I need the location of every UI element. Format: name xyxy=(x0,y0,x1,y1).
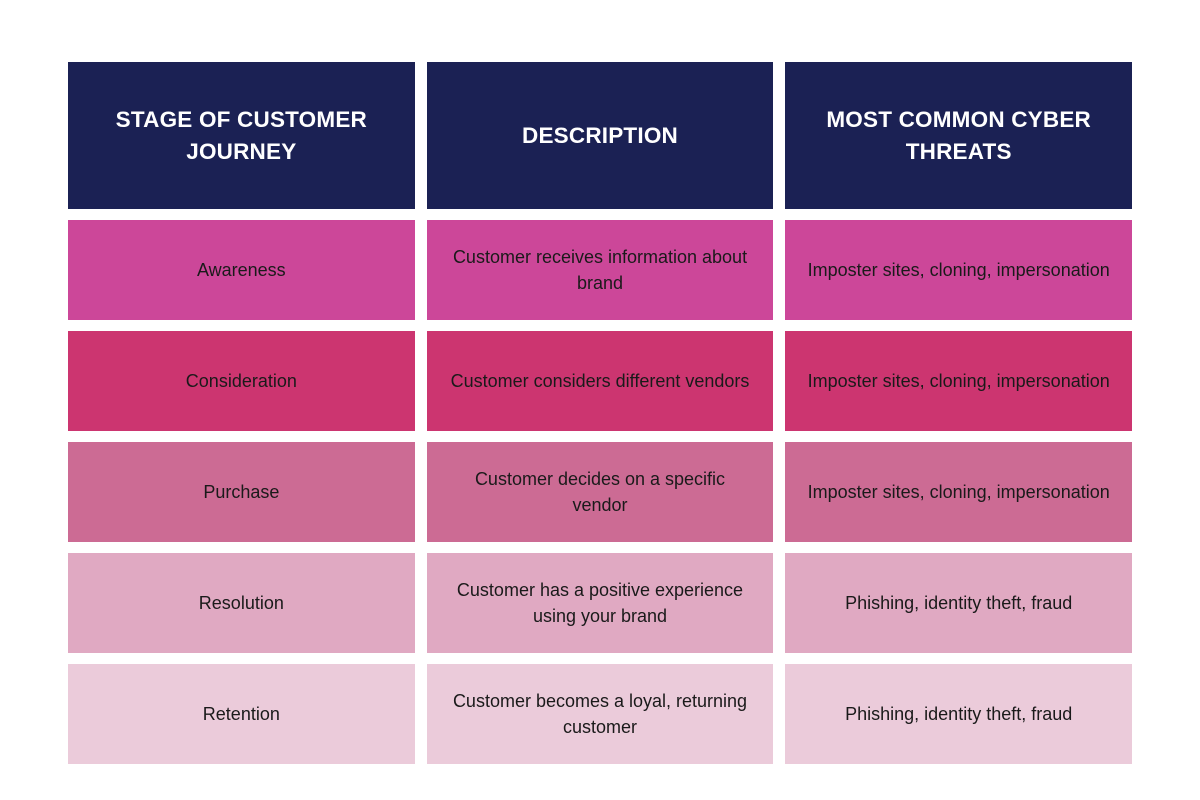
cell-threats-text: Imposter sites, cloning, impersonation xyxy=(807,257,1110,283)
column-header-threats: MOST COMMON CYBER THREATS xyxy=(785,62,1132,209)
table-body: STAGE OF CUSTOMER JOURNEY DESCRIPTION MO… xyxy=(68,62,1132,764)
cell-description: Customer has a positive experience using… xyxy=(427,553,774,653)
cell-description-text: Customer has a positive experience using… xyxy=(449,577,752,629)
table-row: Retention Customer becomes a loyal, retu… xyxy=(68,664,1132,764)
cell-threats: Phishing, identity theft, fraud xyxy=(785,553,1132,653)
column-header-stage-label: STAGE OF CUSTOMER JOURNEY xyxy=(90,104,393,168)
customer-journey-threats-table: STAGE OF CUSTOMER JOURNEY DESCRIPTION MO… xyxy=(68,62,1132,764)
cell-stage-text: Resolution xyxy=(90,590,393,616)
cell-description-text: Customer considers different vendors xyxy=(449,368,752,394)
cell-description: Customer decides on a specific vendor xyxy=(427,442,774,542)
cell-stage-text: Awareness xyxy=(90,257,393,283)
cell-description: Customer becomes a loyal, returning cust… xyxy=(427,664,774,764)
cell-threats-text: Imposter sites, cloning, impersonation xyxy=(807,479,1110,505)
cell-threats: Imposter sites, cloning, impersonation xyxy=(785,442,1132,542)
cell-threats: Imposter sites, cloning, impersonation xyxy=(785,220,1132,320)
cell-stage-text: Purchase xyxy=(90,479,393,505)
column-header-threats-label: MOST COMMON CYBER THREATS xyxy=(807,104,1110,168)
cell-description: Customer receives information about bran… xyxy=(427,220,774,320)
cell-stage-text: Retention xyxy=(90,701,393,727)
column-header-description-label: DESCRIPTION xyxy=(449,120,752,152)
cell-threats-text: Phishing, identity theft, fraud xyxy=(807,590,1110,616)
table-row: Awareness Customer receives information … xyxy=(68,220,1132,320)
table-row: Resolution Customer has a positive exper… xyxy=(68,553,1132,653)
table-header-row: STAGE OF CUSTOMER JOURNEY DESCRIPTION MO… xyxy=(68,62,1132,209)
cell-stage: Retention xyxy=(68,664,415,764)
cell-threats: Imposter sites, cloning, impersonation xyxy=(785,331,1132,431)
table-row: Purchase Customer decides on a specific … xyxy=(68,442,1132,542)
cell-description-text: Customer decides on a specific vendor xyxy=(449,466,752,518)
cell-stage: Consideration xyxy=(68,331,415,431)
cell-stage: Resolution xyxy=(68,553,415,653)
column-header-stage: STAGE OF CUSTOMER JOURNEY xyxy=(68,62,415,209)
cell-stage: Purchase xyxy=(68,442,415,542)
cell-threats: Phishing, identity theft, fraud xyxy=(785,664,1132,764)
cell-description: Customer considers different vendors xyxy=(427,331,774,431)
cell-description-text: Customer receives information about bran… xyxy=(449,244,752,296)
column-header-description: DESCRIPTION xyxy=(427,62,774,209)
cell-stage-text: Consideration xyxy=(90,368,393,394)
cell-stage: Awareness xyxy=(68,220,415,320)
cell-threats-text: Imposter sites, cloning, impersonation xyxy=(807,368,1110,394)
cell-description-text: Customer becomes a loyal, returning cust… xyxy=(449,688,752,740)
table-row: Consideration Customer considers differe… xyxy=(68,331,1132,431)
cell-threats-text: Phishing, identity theft, fraud xyxy=(807,701,1110,727)
